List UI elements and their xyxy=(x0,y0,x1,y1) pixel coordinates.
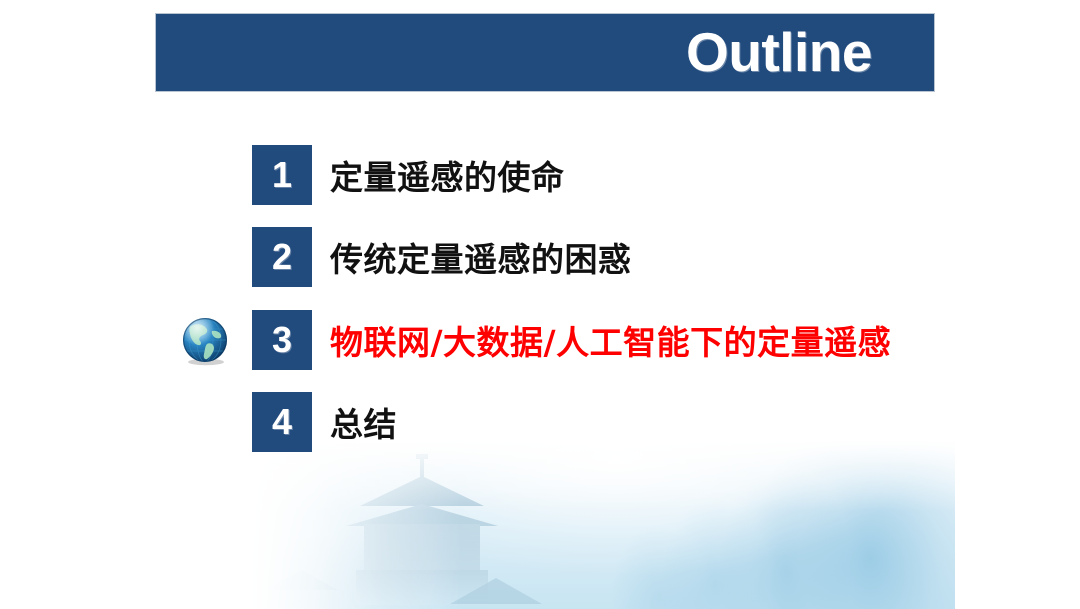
outline-item-2[interactable]: 2 传统定量遥感的困惑 xyxy=(252,227,632,287)
photo-landscape-layer xyxy=(250,440,955,609)
slide-title-bar: Outline xyxy=(155,13,935,92)
temple-upper-roof xyxy=(360,476,484,506)
outline-item-label: 总结 xyxy=(330,398,397,446)
outline-item-4[interactable]: 4 总结 xyxy=(252,392,397,452)
globe-icon xyxy=(179,313,233,367)
temple-spire xyxy=(420,458,424,478)
temple-side-roof xyxy=(450,578,542,604)
outline-number-badge: 2 xyxy=(252,227,312,287)
outline-number-badge: 4 xyxy=(252,392,312,452)
outline-item-label: 传统定量遥感的困惑 xyxy=(330,233,632,281)
outline-item-3[interactable]: 3 物联网/大数据/人工智能下的定量遥感 xyxy=(252,310,891,370)
temple-body xyxy=(364,524,480,574)
temple-lower-roof xyxy=(346,504,498,526)
outline-number-badge: 3 xyxy=(252,310,312,370)
outline-item-label: 物联网/大数据/人工智能下的定量遥感 xyxy=(330,316,891,364)
background-photo xyxy=(250,440,955,609)
outline-number-badge: 1 xyxy=(252,145,312,205)
page-title: Outline xyxy=(686,25,934,80)
temple-outbuilding-roof xyxy=(266,570,338,590)
temple-silhouette xyxy=(338,450,518,605)
outline-item-1[interactable]: 1 定量遥感的使命 xyxy=(252,145,565,205)
outline-item-label: 定量遥感的使命 xyxy=(330,151,565,199)
